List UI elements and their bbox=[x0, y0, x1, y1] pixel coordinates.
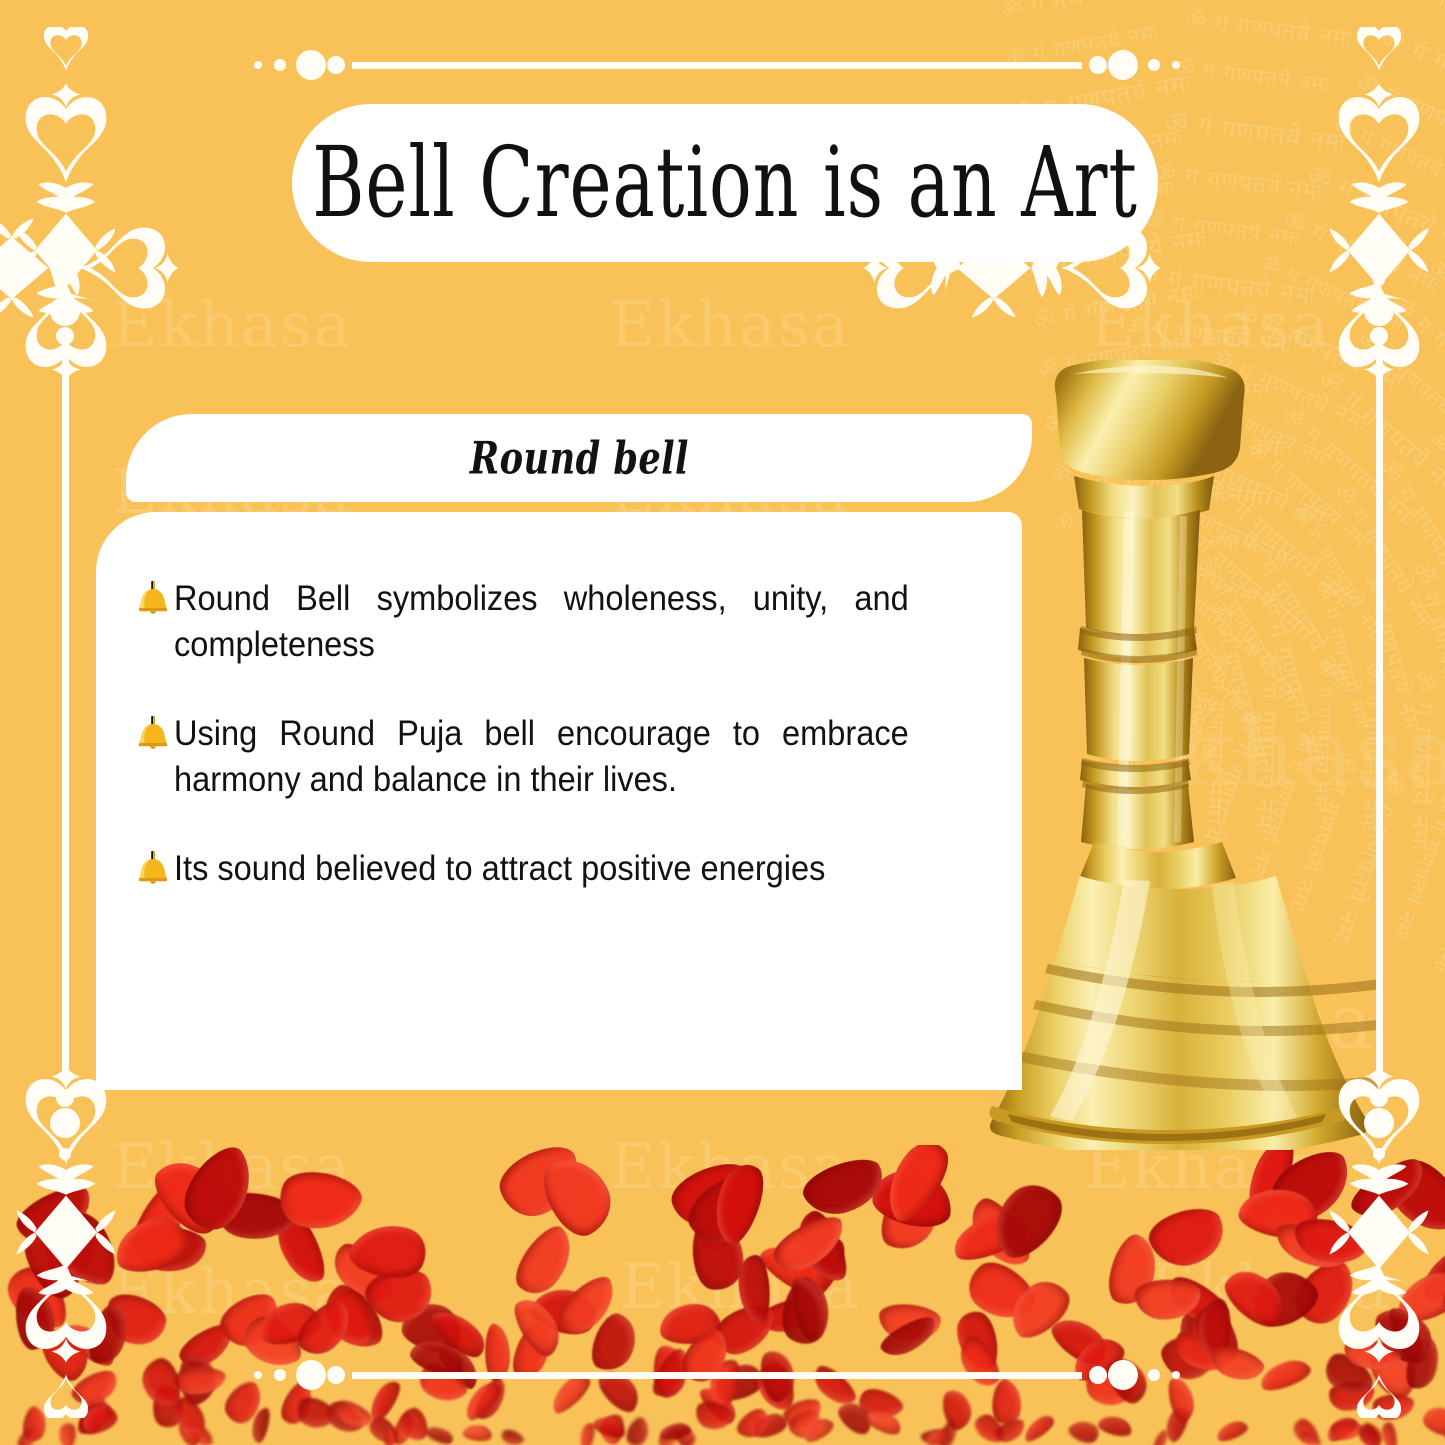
rose-petal bbox=[1293, 1212, 1370, 1270]
rose-petal bbox=[791, 1205, 853, 1290]
border-ornament bbox=[11, 1058, 121, 1370]
mantra-text: ॐ गं गणपतये नमः bbox=[1303, 157, 1445, 262]
rose-petal bbox=[666, 1157, 758, 1234]
border-dot bbox=[61, 1172, 69, 1180]
rose-petal bbox=[73, 1397, 113, 1436]
rose-petal bbox=[411, 1357, 472, 1410]
rose-petal bbox=[173, 1368, 226, 1396]
rose-petal bbox=[251, 1298, 326, 1349]
mantra-text: ॐ गं गणपतये नमः bbox=[1330, 111, 1445, 199]
mantra-text: ॐ गं गणपतये नमः bbox=[1004, 18, 1161, 72]
rose-petal bbox=[74, 1402, 116, 1437]
rose-petal bbox=[674, 1322, 738, 1391]
rose-petal bbox=[653, 1343, 686, 1399]
rose-petal bbox=[19, 1404, 50, 1445]
rose-petal bbox=[506, 1218, 583, 1304]
rose-petal bbox=[270, 1207, 330, 1291]
mantra-text: ॐ गं गणपतये नमः bbox=[1376, 19, 1445, 124]
mantra-text: ॐ गं गणपतये नमः bbox=[1133, 257, 1317, 313]
rose-petal bbox=[1046, 1309, 1115, 1372]
rose-petal bbox=[787, 1273, 829, 1345]
rose-petal bbox=[1168, 1323, 1231, 1381]
mantra-text: ॐ गं गणपतये नमः bbox=[1386, 790, 1445, 945]
rose-petal bbox=[945, 1207, 1033, 1266]
rose-petal bbox=[363, 1377, 405, 1425]
feature-list-item: Using Round Puja bell encourage to embra… bbox=[136, 711, 964, 802]
rose-petal bbox=[1290, 1416, 1323, 1445]
rose-petal bbox=[1322, 1413, 1362, 1444]
rose-petal bbox=[397, 1405, 430, 1445]
border-dot bbox=[59, 1148, 71, 1160]
rose-petal bbox=[177, 1348, 219, 1409]
mantra-text: ॐ गं गणपतये नमः bbox=[1279, 203, 1445, 301]
rose-petal bbox=[509, 1289, 566, 1364]
rose-petal bbox=[875, 1145, 957, 1230]
rose-petal bbox=[1368, 1298, 1440, 1370]
rose-petal bbox=[692, 1397, 735, 1435]
rose-petal bbox=[1156, 1333, 1223, 1381]
rose-petal bbox=[185, 1420, 215, 1445]
border-dot bbox=[327, 1366, 345, 1384]
rose-petal bbox=[289, 1295, 362, 1363]
rose-petal bbox=[1142, 1202, 1236, 1272]
rose-petal bbox=[168, 1392, 209, 1438]
rose-petal bbox=[875, 1312, 943, 1362]
border-dot bbox=[274, 59, 286, 71]
rose-petal bbox=[1150, 1428, 1171, 1445]
rose-petal bbox=[955, 1309, 998, 1371]
border-dot bbox=[296, 1360, 326, 1390]
rose-petal bbox=[622, 1414, 654, 1445]
rose-petal bbox=[14, 1284, 55, 1351]
rose-petal bbox=[774, 1270, 840, 1355]
rose-petal bbox=[677, 1166, 775, 1255]
rose-petal bbox=[498, 1427, 526, 1445]
rose-petal bbox=[798, 1415, 837, 1445]
rose-petal bbox=[759, 1294, 824, 1336]
rose-petal bbox=[940, 1385, 974, 1433]
rose-petal bbox=[39, 1201, 105, 1285]
section-header-band: Round bell bbox=[126, 414, 1032, 502]
mantra-text: ॐ गं गणपतये नमः bbox=[1405, 557, 1445, 741]
border-dot bbox=[50, 1108, 80, 1138]
rose-petal bbox=[957, 1253, 1043, 1332]
rose-petal bbox=[1327, 1381, 1375, 1412]
rose-petal bbox=[1422, 1401, 1445, 1440]
border-dot bbox=[254, 1371, 262, 1379]
rose-petal bbox=[209, 1186, 303, 1248]
brand-watermark: Ekhasa bbox=[1150, 1250, 1391, 1323]
rose-petal bbox=[972, 1413, 1007, 1445]
mantra-text: ॐ गं गणपतये नमः bbox=[1153, 155, 1324, 207]
rose-petal bbox=[595, 1361, 645, 1418]
rose-petal bbox=[331, 1396, 375, 1434]
rose-petal bbox=[553, 1269, 623, 1343]
rose-petal bbox=[704, 1154, 772, 1251]
border-dot bbox=[1172, 1371, 1180, 1379]
rose-petal bbox=[1272, 1215, 1351, 1278]
border-ornament bbox=[27, 27, 105, 105]
rose-petal bbox=[1370, 1393, 1415, 1421]
mantra-text: ॐ गं गणपतये नमः bbox=[1124, 308, 1295, 360]
rose-petal bbox=[400, 1296, 464, 1357]
rose-petal bbox=[175, 1319, 239, 1375]
rose-petal bbox=[1219, 1256, 1290, 1337]
rose-petal bbox=[852, 1384, 908, 1427]
border-dot bbox=[1148, 59, 1160, 71]
rose-petal bbox=[1357, 1419, 1385, 1445]
rose-petal bbox=[176, 1414, 205, 1445]
border-dot bbox=[1364, 296, 1394, 326]
rose-petal bbox=[388, 1410, 418, 1445]
mantra-text: ॐ गं गणपतये नमः bbox=[1174, 53, 1331, 100]
rose-petal bbox=[1336, 1332, 1404, 1378]
rose-petal bbox=[1342, 1152, 1437, 1226]
section-title: Round bell bbox=[470, 432, 689, 485]
mantra-text: ॐ गं गणपतये नमः bbox=[1403, 669, 1443, 852]
rose-petal bbox=[358, 1264, 444, 1327]
border-ornament bbox=[27, 1340, 105, 1418]
rose-petal bbox=[731, 1405, 776, 1442]
rose-petal bbox=[535, 1145, 622, 1245]
rose-petal bbox=[0, 1263, 73, 1332]
poster-canvas: ॐ गं गणपतये नमः ॐ गं गणपतये नमः ॐ गं गणप… bbox=[0, 0, 1445, 1445]
rose-petal bbox=[597, 1414, 626, 1445]
rose-petal bbox=[584, 1310, 645, 1376]
mantra-text: ॐ गं गणपतये नमः bbox=[1422, 251, 1445, 396]
mantra-text: ॐ गं गणपतये नमः bbox=[1163, 104, 1347, 160]
rose-petal bbox=[755, 1235, 832, 1304]
brand-watermark: Ekhasa bbox=[112, 1130, 353, 1203]
rose-petal bbox=[320, 1397, 367, 1439]
feature-list-item: Its sound believed to attract positive e… bbox=[136, 846, 964, 892]
rose-petal bbox=[212, 1287, 289, 1355]
brand-watermark: Ekhasa bbox=[610, 288, 851, 361]
rose-petal bbox=[459, 1377, 505, 1424]
rose-petal bbox=[1102, 1350, 1154, 1410]
rose-petal bbox=[138, 1353, 184, 1411]
rose-petal bbox=[954, 1329, 1004, 1396]
rose-petal bbox=[784, 1407, 827, 1443]
rose-petal bbox=[47, 1213, 120, 1287]
rose-petal bbox=[657, 1421, 692, 1441]
rose-petal bbox=[234, 1310, 309, 1377]
rose-petal bbox=[434, 1334, 484, 1395]
mantra-text: ॐ गं गणपतये नमः bbox=[1031, 275, 1202, 336]
rose-petal bbox=[124, 1176, 203, 1257]
feature-list-card: Round Bell symbolizes wholeness, unity, … bbox=[96, 512, 1022, 1090]
rose-petal bbox=[1264, 1145, 1359, 1230]
rose-petal bbox=[111, 1213, 193, 1276]
rose-petal bbox=[1161, 1405, 1192, 1445]
rose-petal bbox=[780, 1395, 825, 1431]
border-dot bbox=[274, 1369, 286, 1381]
bell-icon bbox=[136, 850, 170, 884]
rose-petal bbox=[463, 1423, 494, 1443]
border-dot bbox=[1148, 1369, 1160, 1381]
rose-petal bbox=[16, 1225, 88, 1305]
rose-petal bbox=[1296, 1429, 1323, 1445]
border-dot bbox=[1108, 1360, 1138, 1390]
rose-petal bbox=[1181, 1307, 1210, 1372]
border-dot bbox=[1089, 1366, 1107, 1384]
rose-petal bbox=[56, 1420, 78, 1445]
mantra-text: ॐ गं गणपतये नमः bbox=[1423, 427, 1445, 573]
brand-watermark: Ekhasa bbox=[112, 288, 353, 361]
rose-petal bbox=[992, 1416, 1028, 1445]
rose-petal bbox=[1384, 1303, 1434, 1367]
rose-petal bbox=[879, 1301, 941, 1345]
rose-petal bbox=[795, 1152, 895, 1222]
rose-petal bbox=[646, 1345, 698, 1402]
rose-petal bbox=[1213, 1418, 1249, 1444]
rose-petal bbox=[66, 1366, 125, 1411]
rose-petal bbox=[408, 1332, 468, 1382]
bell-icon bbox=[136, 580, 170, 614]
brand-watermark: Ekhasa bbox=[610, 1130, 851, 1203]
border-dot bbox=[327, 56, 345, 74]
rose-petal bbox=[219, 1377, 268, 1432]
rose-petal bbox=[1065, 1417, 1103, 1445]
rose-petal bbox=[270, 1163, 368, 1239]
border-dot bbox=[50, 296, 80, 326]
rose-petal bbox=[778, 1229, 854, 1307]
rose-petal bbox=[1134, 1279, 1201, 1320]
rose-petal bbox=[1097, 1413, 1133, 1440]
rose-petal bbox=[425, 1303, 493, 1363]
rose-petal bbox=[1100, 1230, 1166, 1312]
rose-petal bbox=[671, 1423, 699, 1445]
rose-petal bbox=[754, 1363, 795, 1412]
rose-petal bbox=[11, 1180, 100, 1251]
rose-petal bbox=[506, 1320, 559, 1385]
mantra-text: ॐ गं गणपतये नमः bbox=[1426, 809, 1445, 978]
mantra-text: ॐ गं गणपतये नमः bbox=[1193, 0, 1377, 7]
rose-petal bbox=[962, 1190, 1036, 1277]
rose-petal bbox=[174, 1145, 265, 1244]
rose-petal bbox=[15, 1424, 42, 1445]
feature-list-item: Round Bell symbolizes wholeness, unity, … bbox=[136, 576, 964, 667]
brand-watermark: Ekhasa bbox=[112, 1255, 353, 1328]
rose-petal bbox=[757, 1343, 798, 1406]
mantra-text: ॐ गं गणपतये नमः bbox=[1256, 249, 1409, 337]
rose-petal bbox=[484, 1323, 511, 1382]
rose-petal bbox=[1185, 1301, 1244, 1370]
title-banner: Bell Creation is an Art bbox=[292, 104, 1158, 262]
rose-petal bbox=[317, 1277, 378, 1357]
mantra-text: ॐ गं गणपतये नमः bbox=[1386, 288, 1445, 422]
rose-petal bbox=[1286, 1253, 1366, 1335]
rose-petal bbox=[1439, 1407, 1445, 1445]
rose-petal bbox=[75, 1391, 114, 1440]
border-dot bbox=[59, 274, 71, 286]
rose-petal-field bbox=[0, 1145, 1445, 1445]
border-dot bbox=[1089, 56, 1107, 74]
border-dot bbox=[1108, 50, 1138, 80]
rose-petal bbox=[870, 1169, 954, 1258]
rose-petal bbox=[1329, 1420, 1364, 1442]
rose-petal bbox=[1365, 1339, 1424, 1406]
border-dot bbox=[1370, 327, 1388, 345]
rose-petal bbox=[1235, 1181, 1323, 1246]
rose-petal bbox=[865, 1405, 905, 1438]
rose-petal bbox=[923, 1427, 953, 1445]
border-ornament bbox=[1324, 76, 1434, 388]
rose-petal bbox=[592, 1413, 628, 1442]
border-dot bbox=[1375, 254, 1383, 262]
rose-petal bbox=[835, 1395, 877, 1441]
rose-petal bbox=[343, 1216, 436, 1286]
rose-petal bbox=[1207, 1340, 1267, 1388]
page-title: Bell Creation is an Art bbox=[312, 134, 1138, 232]
rose-petal bbox=[423, 1423, 457, 1445]
rose-petal bbox=[871, 1161, 952, 1234]
rose-petal bbox=[58, 1314, 120, 1372]
rose-petal bbox=[324, 1236, 400, 1314]
rose-petal bbox=[291, 1391, 339, 1435]
mantra-text: ॐ गं गणपतये नमः bbox=[998, 0, 1169, 25]
rose-petal bbox=[691, 1214, 744, 1293]
rose-petal bbox=[132, 1224, 209, 1274]
rose-petal bbox=[77, 1400, 122, 1436]
feature-list-item-text: Using Round Puja bell encourage to embra… bbox=[174, 711, 909, 802]
rose-petal bbox=[149, 1382, 187, 1432]
rose-petal bbox=[1317, 1346, 1378, 1405]
rose-petal bbox=[771, 1210, 849, 1280]
rose-petal bbox=[809, 1360, 860, 1413]
rose-petal bbox=[695, 1177, 770, 1261]
rose-petal bbox=[715, 1301, 776, 1360]
rose-petal bbox=[1413, 1238, 1445, 1306]
rose-petal bbox=[1163, 1269, 1233, 1335]
rose-petal bbox=[1022, 1411, 1057, 1444]
border-dot bbox=[61, 254, 69, 262]
feature-list-item-text: Round Bell symbolizes wholeness, unity, … bbox=[174, 576, 909, 667]
mantra-text: ॐ गं गणपतये नमः bbox=[1144, 206, 1301, 253]
rose-petal bbox=[82, 1302, 135, 1368]
rose-petal bbox=[35, 1317, 95, 1390]
rose-petal bbox=[1065, 1332, 1132, 1387]
rose-petal bbox=[703, 1356, 745, 1410]
rose-petal bbox=[320, 1283, 389, 1358]
rose-petal bbox=[471, 1375, 513, 1423]
mantra-text: ॐ गं गणपतये नमः bbox=[1352, 65, 1445, 163]
rose-petal bbox=[1395, 1266, 1445, 1327]
rose-petal bbox=[146, 1145, 236, 1246]
border-dot bbox=[1373, 274, 1385, 286]
border-ornament bbox=[1340, 27, 1418, 105]
border-dot bbox=[1375, 1172, 1383, 1180]
mantra-text: ॐ गं गणपतये नमः bbox=[1426, 0, 1445, 25]
rose-petal bbox=[1437, 1283, 1445, 1348]
rose-petal bbox=[979, 1173, 1073, 1268]
rose-petal bbox=[738, 1253, 770, 1324]
border-dot bbox=[296, 50, 326, 80]
rose-petal bbox=[1166, 1374, 1197, 1426]
rose-petal bbox=[697, 1382, 741, 1428]
rose-petal bbox=[577, 1420, 597, 1445]
rose-petal bbox=[365, 1413, 401, 1445]
brand-watermark: Ekhasa bbox=[1090, 288, 1331, 361]
rose-petal bbox=[1356, 1421, 1382, 1445]
bell-icon bbox=[136, 715, 170, 749]
rose-petal bbox=[546, 1368, 594, 1417]
rose-petal bbox=[935, 1418, 961, 1445]
rose-petal bbox=[384, 1429, 395, 1445]
border-dot bbox=[56, 1089, 74, 1107]
rose-petal bbox=[527, 1280, 604, 1343]
mantra-text: ॐ गं गणपतये नमः bbox=[1372, 452, 1445, 624]
rose-petal bbox=[1239, 1263, 1329, 1334]
rose-petal bbox=[102, 1286, 168, 1355]
border-ornament bbox=[0, 213, 186, 323]
border-ornament bbox=[1340, 1340, 1418, 1418]
rose-petal bbox=[1079, 1359, 1138, 1416]
brand-watermark: Ekhasa bbox=[620, 1250, 861, 1323]
border-dot bbox=[56, 327, 74, 345]
rose-petal bbox=[999, 1272, 1078, 1346]
rose-petal bbox=[1198, 1297, 1231, 1364]
rose-petal bbox=[988, 1376, 1025, 1430]
border-ornament bbox=[11, 76, 121, 388]
feature-list-item-text: Its sound believed to attract positive e… bbox=[174, 846, 909, 892]
border-dot bbox=[1172, 61, 1180, 69]
rose-petal bbox=[751, 1411, 788, 1441]
rose-petal bbox=[1377, 1151, 1445, 1244]
mantra-text: ॐ गं गणपतये नमः bbox=[1403, 0, 1445, 62]
rose-petal bbox=[493, 1145, 589, 1226]
mantra-text: ॐ गं गणपतये नमः bbox=[1183, 2, 1354, 54]
rose-petal bbox=[656, 1424, 684, 1445]
rose-petal bbox=[275, 1377, 318, 1432]
rose-petal bbox=[921, 1428, 950, 1444]
rose-petal bbox=[714, 1362, 764, 1404]
rose-petal bbox=[1237, 1145, 1302, 1224]
rose-petal bbox=[249, 1408, 273, 1444]
border-dot bbox=[254, 61, 262, 69]
rose-petal bbox=[659, 1304, 722, 1344]
rose-petal bbox=[1400, 1331, 1445, 1394]
rose-petal bbox=[1255, 1355, 1315, 1394]
rose-petal bbox=[1381, 1421, 1398, 1445]
